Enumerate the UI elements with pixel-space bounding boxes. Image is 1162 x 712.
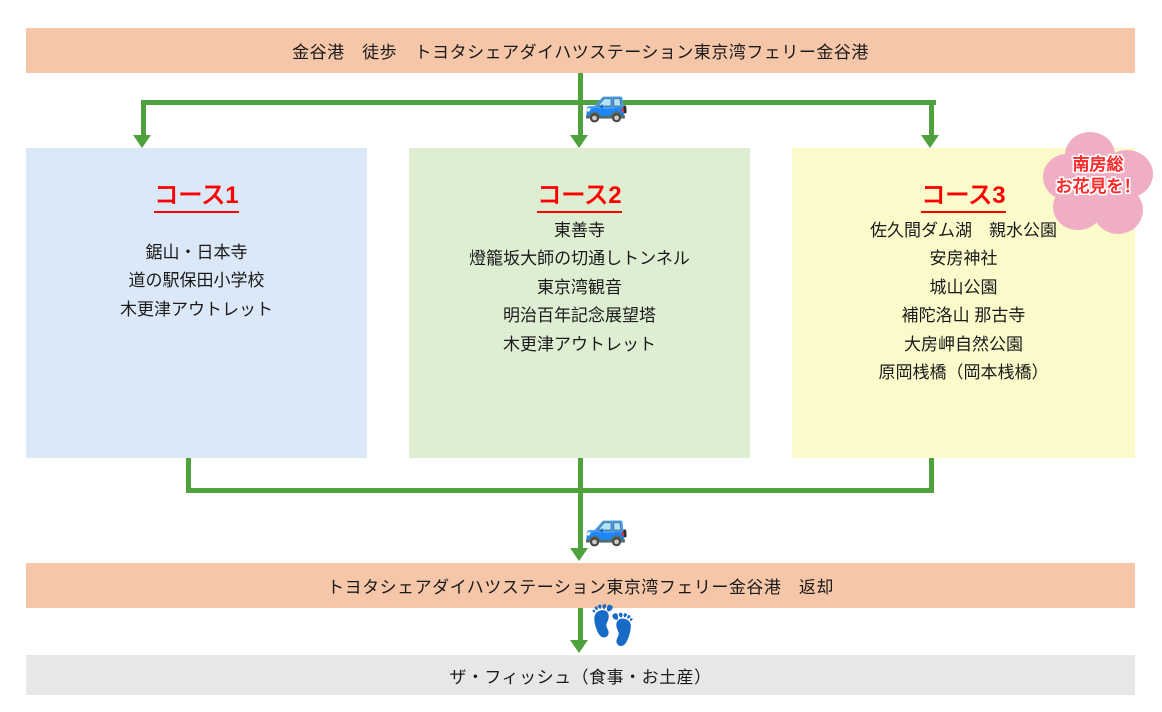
connector-bottom-horizontal <box>186 488 934 493</box>
arrowhead-course-3 <box>921 135 939 148</box>
list-item: 明治百年記念展望塔 <box>409 302 750 331</box>
car-icon: 🚙 <box>584 85 629 121</box>
connector-to-return-bar <box>578 488 583 551</box>
course-1-title: コース1 <box>154 182 238 213</box>
connector-top-stem <box>578 73 583 103</box>
course-2-title: コース2 <box>537 182 621 213</box>
sakura-badge-text: 南房総 お花見を！ <box>1043 154 1153 198</box>
fish-bar-destination: ザ・フィッシュ（食事・お土産） <box>26 655 1135 695</box>
list-item: 補陀洛山 那古寺 <box>792 302 1135 331</box>
list-item: 城山公園 <box>792 274 1135 303</box>
list-item: 木更津アウトレット <box>409 331 750 360</box>
diagram-canvas: 金谷港 徒歩 トヨタシェアダイハツステーション東京湾フェリー金谷港 🚙 コース1… <box>0 0 1162 712</box>
sakura-badge-line-1: 南房総 <box>1043 154 1153 176</box>
list-item: 木更津アウトレット <box>26 296 367 325</box>
course-3-title: コース3 <box>921 182 1005 213</box>
course-box-2[interactable]: コース2 東善寺 燈籠坂大師の切通しトンネル 東京湾観音 明治百年記念展望塔 木… <box>409 148 750 458</box>
connector-drop-course-1 <box>141 100 146 138</box>
car-icon: 🚙 <box>584 509 629 545</box>
arrowhead-course-2 <box>570 135 588 148</box>
course-box-1[interactable]: コース1 鋸山・日本寺 道の駅保田小学校 木更津アウトレット <box>26 148 367 458</box>
footprints-icon: 👣 <box>589 607 636 645</box>
list-item: 燈籠坂大師の切通しトンネル <box>409 245 750 274</box>
connector-drop-course-2 <box>578 100 583 138</box>
course-3-spot-list: 佐久間ダム湖 親水公園 安房神社 城山公園 補陀洛山 那古寺 大房岬自然公園 原… <box>792 217 1135 388</box>
list-item: 大房岬自然公園 <box>792 331 1135 360</box>
connector-to-fish-bar <box>578 608 583 643</box>
list-item: 東京湾観音 <box>409 274 750 303</box>
fish-bar-label: ザ・フィッシュ（食事・お土産） <box>449 663 711 688</box>
return-bar-label: トヨタシェアダイハツステーション東京湾フェリー金谷港 返却 <box>327 573 834 598</box>
course-2-spot-list: 東善寺 燈籠坂大師の切通しトンネル 東京湾観音 明治百年記念展望塔 木更津アウト… <box>409 217 750 360</box>
connector-top-horizontal <box>143 100 936 105</box>
arrowhead-course-1 <box>133 135 151 148</box>
list-item: 道の駅保田小学校 <box>26 267 367 296</box>
arrowhead-return-bar <box>570 548 588 561</box>
list-item: 東善寺 <box>409 217 750 246</box>
list-item: 原岡桟橋（岡本桟橋） <box>792 359 1135 388</box>
list-item: 鋸山・日本寺 <box>26 239 367 268</box>
top-bar-start-point: 金谷港 徒歩 トヨタシェアダイハツステーション東京湾フェリー金谷港 <box>26 28 1135 73</box>
sakura-badge: 南房総 お花見を！ <box>1043 132 1153 236</box>
return-bar: トヨタシェアダイハツステーション東京湾フェリー金谷港 返却 <box>26 563 1135 608</box>
course-1-spot-list: 鋸山・日本寺 道の駅保田小学校 木更津アウトレット <box>26 239 367 325</box>
connector-drop-course-3 <box>929 100 934 138</box>
arrowhead-fish-bar <box>570 640 588 653</box>
top-bar-label: 金谷港 徒歩 トヨタシェアダイハツステーション東京湾フェリー金谷港 <box>292 38 869 63</box>
list-item: 安房神社 <box>792 245 1135 274</box>
sakura-badge-line-2: お花見を！ <box>1043 176 1153 198</box>
